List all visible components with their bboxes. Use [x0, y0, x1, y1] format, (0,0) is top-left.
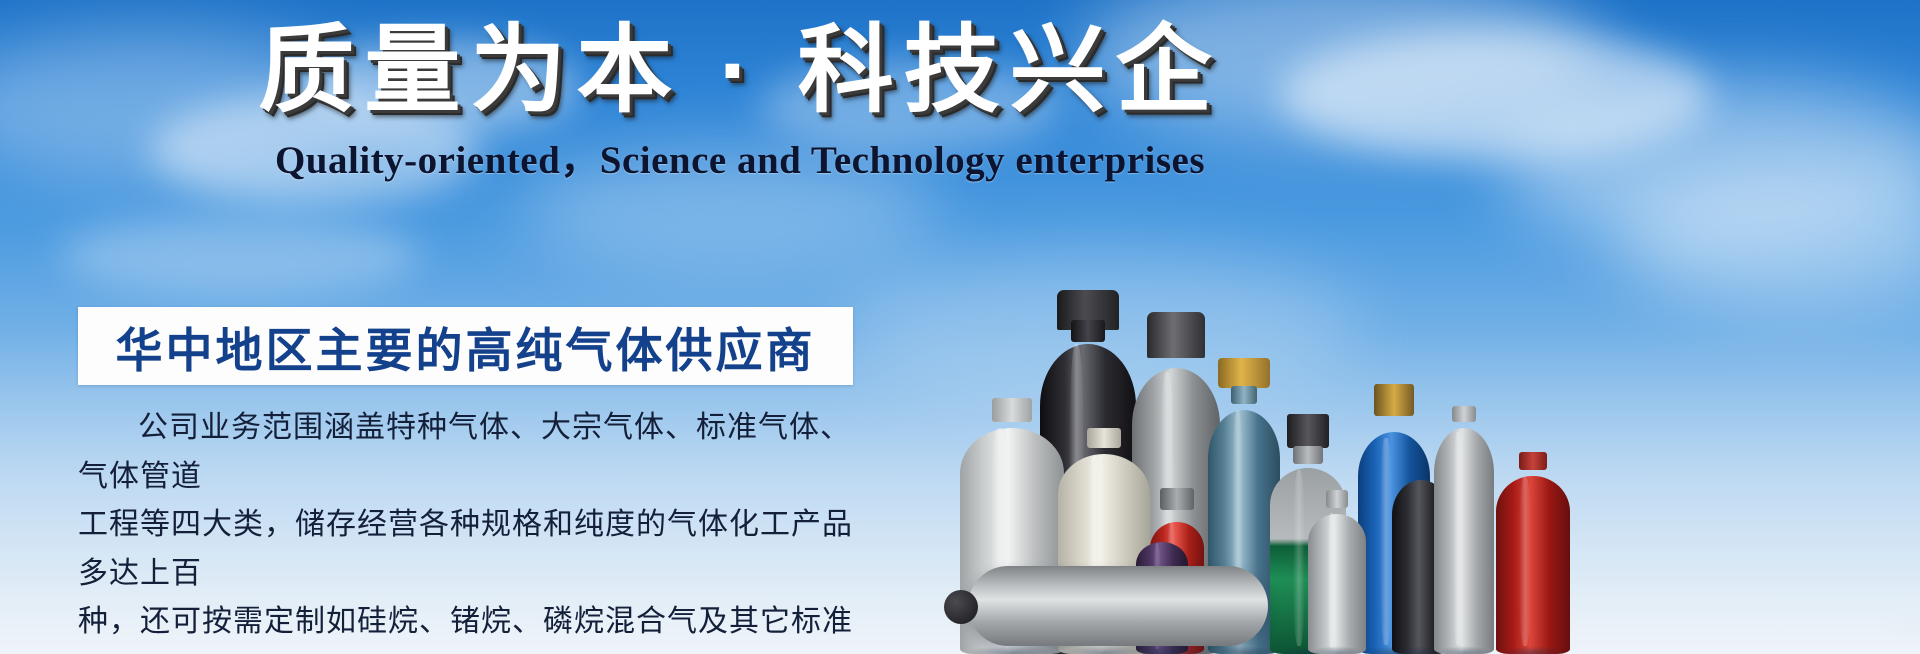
cylinder-highlight: [1453, 432, 1463, 644]
cylinder-valve-icon: [1374, 384, 1414, 416]
cylinder-neck: [1519, 452, 1547, 470]
cylinder-shadow: [1062, 646, 1147, 654]
cylinder-valve-icon: [1160, 488, 1194, 510]
cylinder-neck: [1071, 320, 1105, 342]
cylinder-lying-valve-icon: [944, 590, 978, 624]
cylinder-valve-icon: [1218, 358, 1270, 388]
cylinder-neck: [1293, 446, 1323, 464]
tagline-text: 华中地区主要的高纯气体供应商: [116, 312, 816, 381]
product-image-gas-cylinders: [940, 150, 1920, 654]
cylinder-highlight: [1380, 438, 1392, 645]
body-line: 工程等四大类，储存经营各种规格和纯度的气体化工产品多达上百: [78, 501, 868, 598]
cylinder-shadow: [964, 646, 1060, 654]
promotional-banner: 质量为本 · 科技兴企 Quality-oriented，Science and…: [0, 0, 1920, 654]
cylinder-neck: [1231, 386, 1257, 404]
page-title: 质量为本 · 科技兴企: [258, 14, 1221, 127]
cylinder-neck: [1087, 428, 1121, 448]
cylinder-highlight: [1519, 477, 1531, 646]
cylinder-shadow: [1138, 646, 1186, 654]
cylinder-body: [1434, 428, 1494, 654]
cylinder-body: [1496, 476, 1570, 654]
cylinder-shadow: [1310, 646, 1363, 654]
cylinder-lying-grey: [968, 566, 1268, 646]
body-copy: 公司业务范围涵盖特种气体、大宗气体、标准气体、气体管道 工程等四大类，储存经营各…: [78, 404, 868, 654]
cylinder-red-large: [1496, 466, 1570, 654]
cylinder-shadow: [1436, 646, 1491, 654]
tagline-box: 华中地区主要的高纯气体供应商: [78, 307, 853, 385]
cylinder-aluminium-2: [1308, 504, 1366, 654]
cylinder-highlight: [1293, 470, 1305, 646]
cloud-decoration: [60, 215, 420, 295]
cylinder-neck: [1326, 490, 1348, 508]
cylinder-cap-icon: [1147, 312, 1205, 358]
body-line: 公司业务范围涵盖特种气体、大宗气体、标准气体、气体管道: [78, 404, 868, 501]
cylinder-highlight: [1327, 513, 1336, 648]
cylinder-shadow: [1211, 646, 1277, 654]
cylinder-aluminium-1: [1434, 418, 1494, 654]
cylinder-shadow: [1499, 646, 1567, 654]
cylinder-body: [1308, 514, 1366, 654]
ground-haze: [1870, 602, 1920, 654]
body-line: 种，还可按需定制如硅烷、锗烷、磷烷混合气及其它标准气体。: [78, 598, 868, 654]
cylinder-neck: [1452, 406, 1476, 422]
cylinder-neck: [992, 398, 1032, 422]
cylinder-valve-icon: [1287, 414, 1329, 448]
